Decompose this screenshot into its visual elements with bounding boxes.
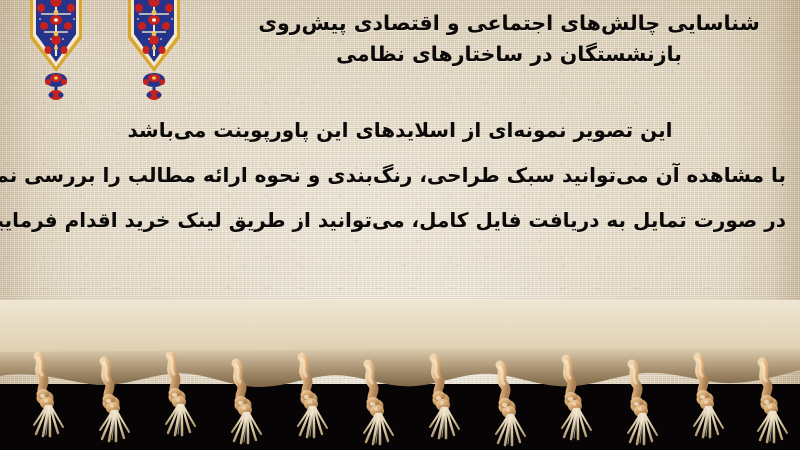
slide-body: این تصویر نمونه‌ای از اسلایدهای این پاور… xyxy=(14,108,786,243)
medallion-right xyxy=(128,0,180,72)
carpet-medallion-group xyxy=(0,0,240,100)
slide-title-line-1: شناسایی چالش‌های اجتماعی و اقتصادی پیش‌ر… xyxy=(244,8,774,39)
slide-body-line-3: در صورت تمایل به دریافت فایل کامل، می‌تو… xyxy=(14,198,786,243)
medallion-drop-right xyxy=(143,73,165,100)
slide-body-line-2: با مشاهده آن می‌توانید سبک طراحی، رنگ‌بن… xyxy=(14,153,786,198)
carpet-fringe xyxy=(0,352,800,450)
medallion-drop-left xyxy=(45,73,67,100)
medallion-left xyxy=(30,0,82,72)
slide-title-line-2: بازنشستگان در ساختارهای نظامی xyxy=(244,39,774,70)
slide-canvas: شناسایی چالش‌های اجتماعی و اقتصادی پیش‌ر… xyxy=(0,0,800,450)
slide-body-line-1: این تصویر نمونه‌ای از اسلایدهای این پاور… xyxy=(14,108,786,153)
slide-title: شناسایی چالش‌های اجتماعی و اقتصادی پیش‌ر… xyxy=(244,8,774,70)
